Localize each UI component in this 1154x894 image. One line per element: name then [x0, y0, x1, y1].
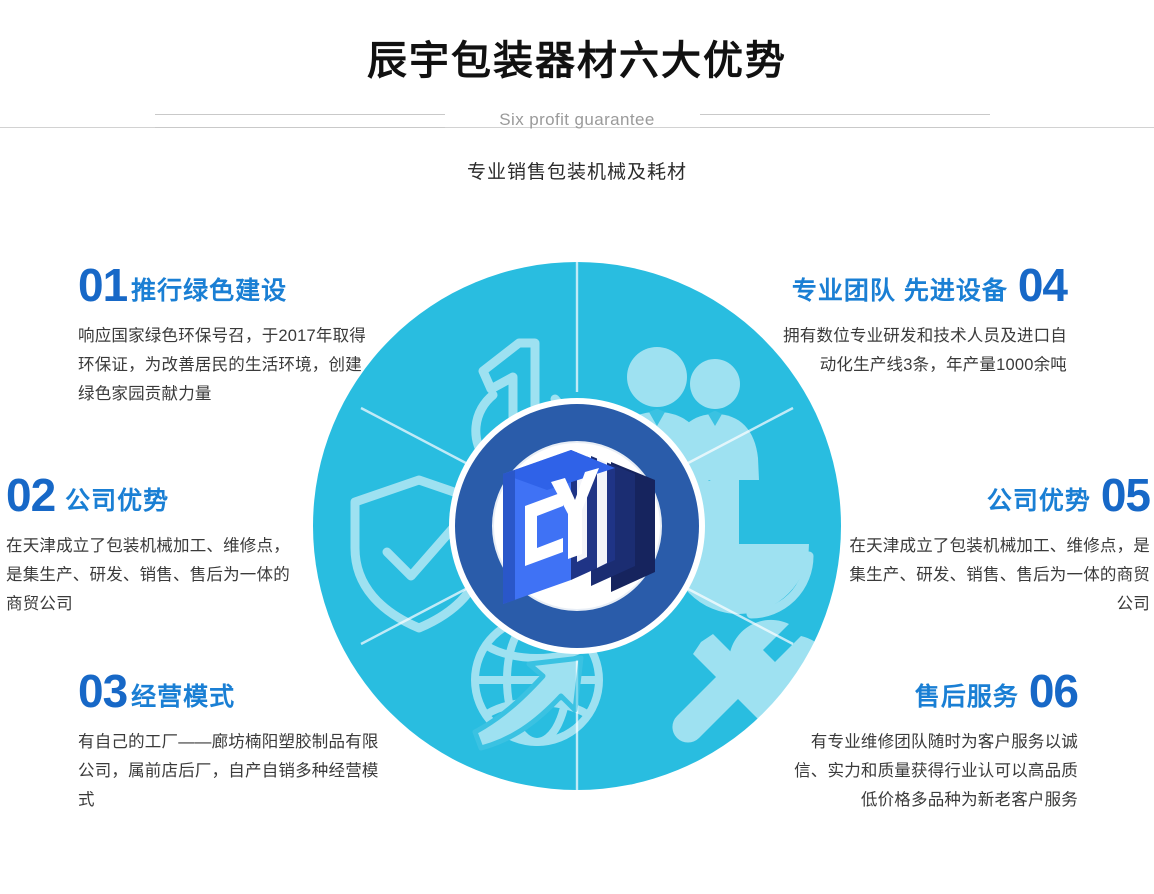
advantage-item-05: 公司优势05 在天津成立了包装机械加工、维修点，是集生产、研发、销售、售后为一体…: [848, 472, 1150, 619]
advantage-label-03: 经营模式: [131, 683, 235, 711]
advantage-body-02: 在天津成立了包装机械加工、维修点，是集生产、研发、销售、售后为一体的商贸公司: [6, 532, 306, 619]
advantage-heading-06: 售后服务06: [778, 668, 1078, 714]
advantage-item-03: 03经营模式 有自己的工厂——廊坊楠阳塑胶制品有限公司，属前店后厂，自产自销多种…: [78, 668, 390, 815]
advantage-label-05: 公司优势: [987, 487, 1091, 515]
advantage-heading-04: 专业团队 先进设备04: [775, 262, 1067, 308]
advantage-body-06: 有专业维修团队随时为客户服务以诚信、实力和质量获得行业认可以高品质低价格多品种为…: [778, 728, 1078, 815]
advantage-label-06: 售后服务: [915, 683, 1019, 711]
advantage-number-01: 01: [78, 259, 127, 311]
advantage-label-02: 公司优势: [65, 487, 169, 515]
advantage-number-02: 02: [6, 469, 55, 521]
advantage-body-01: 响应国家绿色环保号召，于2017年取得环保证，为改善居民的生活环境，创建绿色家园…: [78, 322, 378, 409]
advantage-number-05: 05: [1101, 469, 1150, 521]
advantage-number-06: 06: [1029, 665, 1078, 717]
header-section: 辰宇包装器材六大优势 Six profit guarantee 专业销售包装机械…: [0, 0, 1154, 210]
advantage-item-01: 01推行绿色建设 响应国家绿色环保号召，于2017年取得环保证，为改善居民的生活…: [78, 262, 378, 409]
advantage-number-04: 04: [1018, 259, 1067, 311]
advantage-item-06: 售后服务06 有专业维修团队随时为客户服务以诚信、实力和质量获得行业认可以高品质…: [778, 668, 1078, 815]
advantage-body-03: 有自己的工厂——廊坊楠阳塑胶制品有限公司，属前店后厂，自产自销多种经营模式: [78, 728, 390, 815]
page-title: 辰宇包装器材六大优势: [0, 36, 1154, 86]
subtitle-english: Six profit guarantee: [0, 110, 1154, 130]
advantage-heading-02: 02公司优势: [6, 472, 306, 518]
advantage-item-02: 02公司优势 在天津成立了包装机械加工、维修点，是集生产、研发、销售、售后为一体…: [6, 472, 306, 619]
six-advantage-wheel: [313, 262, 841, 790]
advantage-label-01: 推行绿色建设: [131, 277, 287, 305]
advantage-body-04: 拥有数位专业研发和技术人员及进口自动化生产线3条，年产量1000余吨: [775, 322, 1067, 380]
advantage-number-03: 03: [78, 665, 127, 717]
advantage-body-05: 在天津成立了包装机械加工、维修点，是集生产、研发、销售、售后为一体的商贸公司: [848, 532, 1150, 619]
subtitle-chinese: 专业销售包装机械及耗材: [0, 157, 1154, 184]
advantage-item-04: 专业团队 先进设备04 拥有数位专业研发和技术人员及进口自动化生产线3条，年产量…: [775, 262, 1067, 380]
advantage-heading-03: 03经营模式: [78, 668, 390, 714]
advantage-heading-01: 01推行绿色建设: [78, 262, 378, 308]
advantage-label-04: 专业团队 先进设备: [792, 277, 1008, 305]
advantage-heading-05: 公司优势05: [848, 472, 1150, 518]
